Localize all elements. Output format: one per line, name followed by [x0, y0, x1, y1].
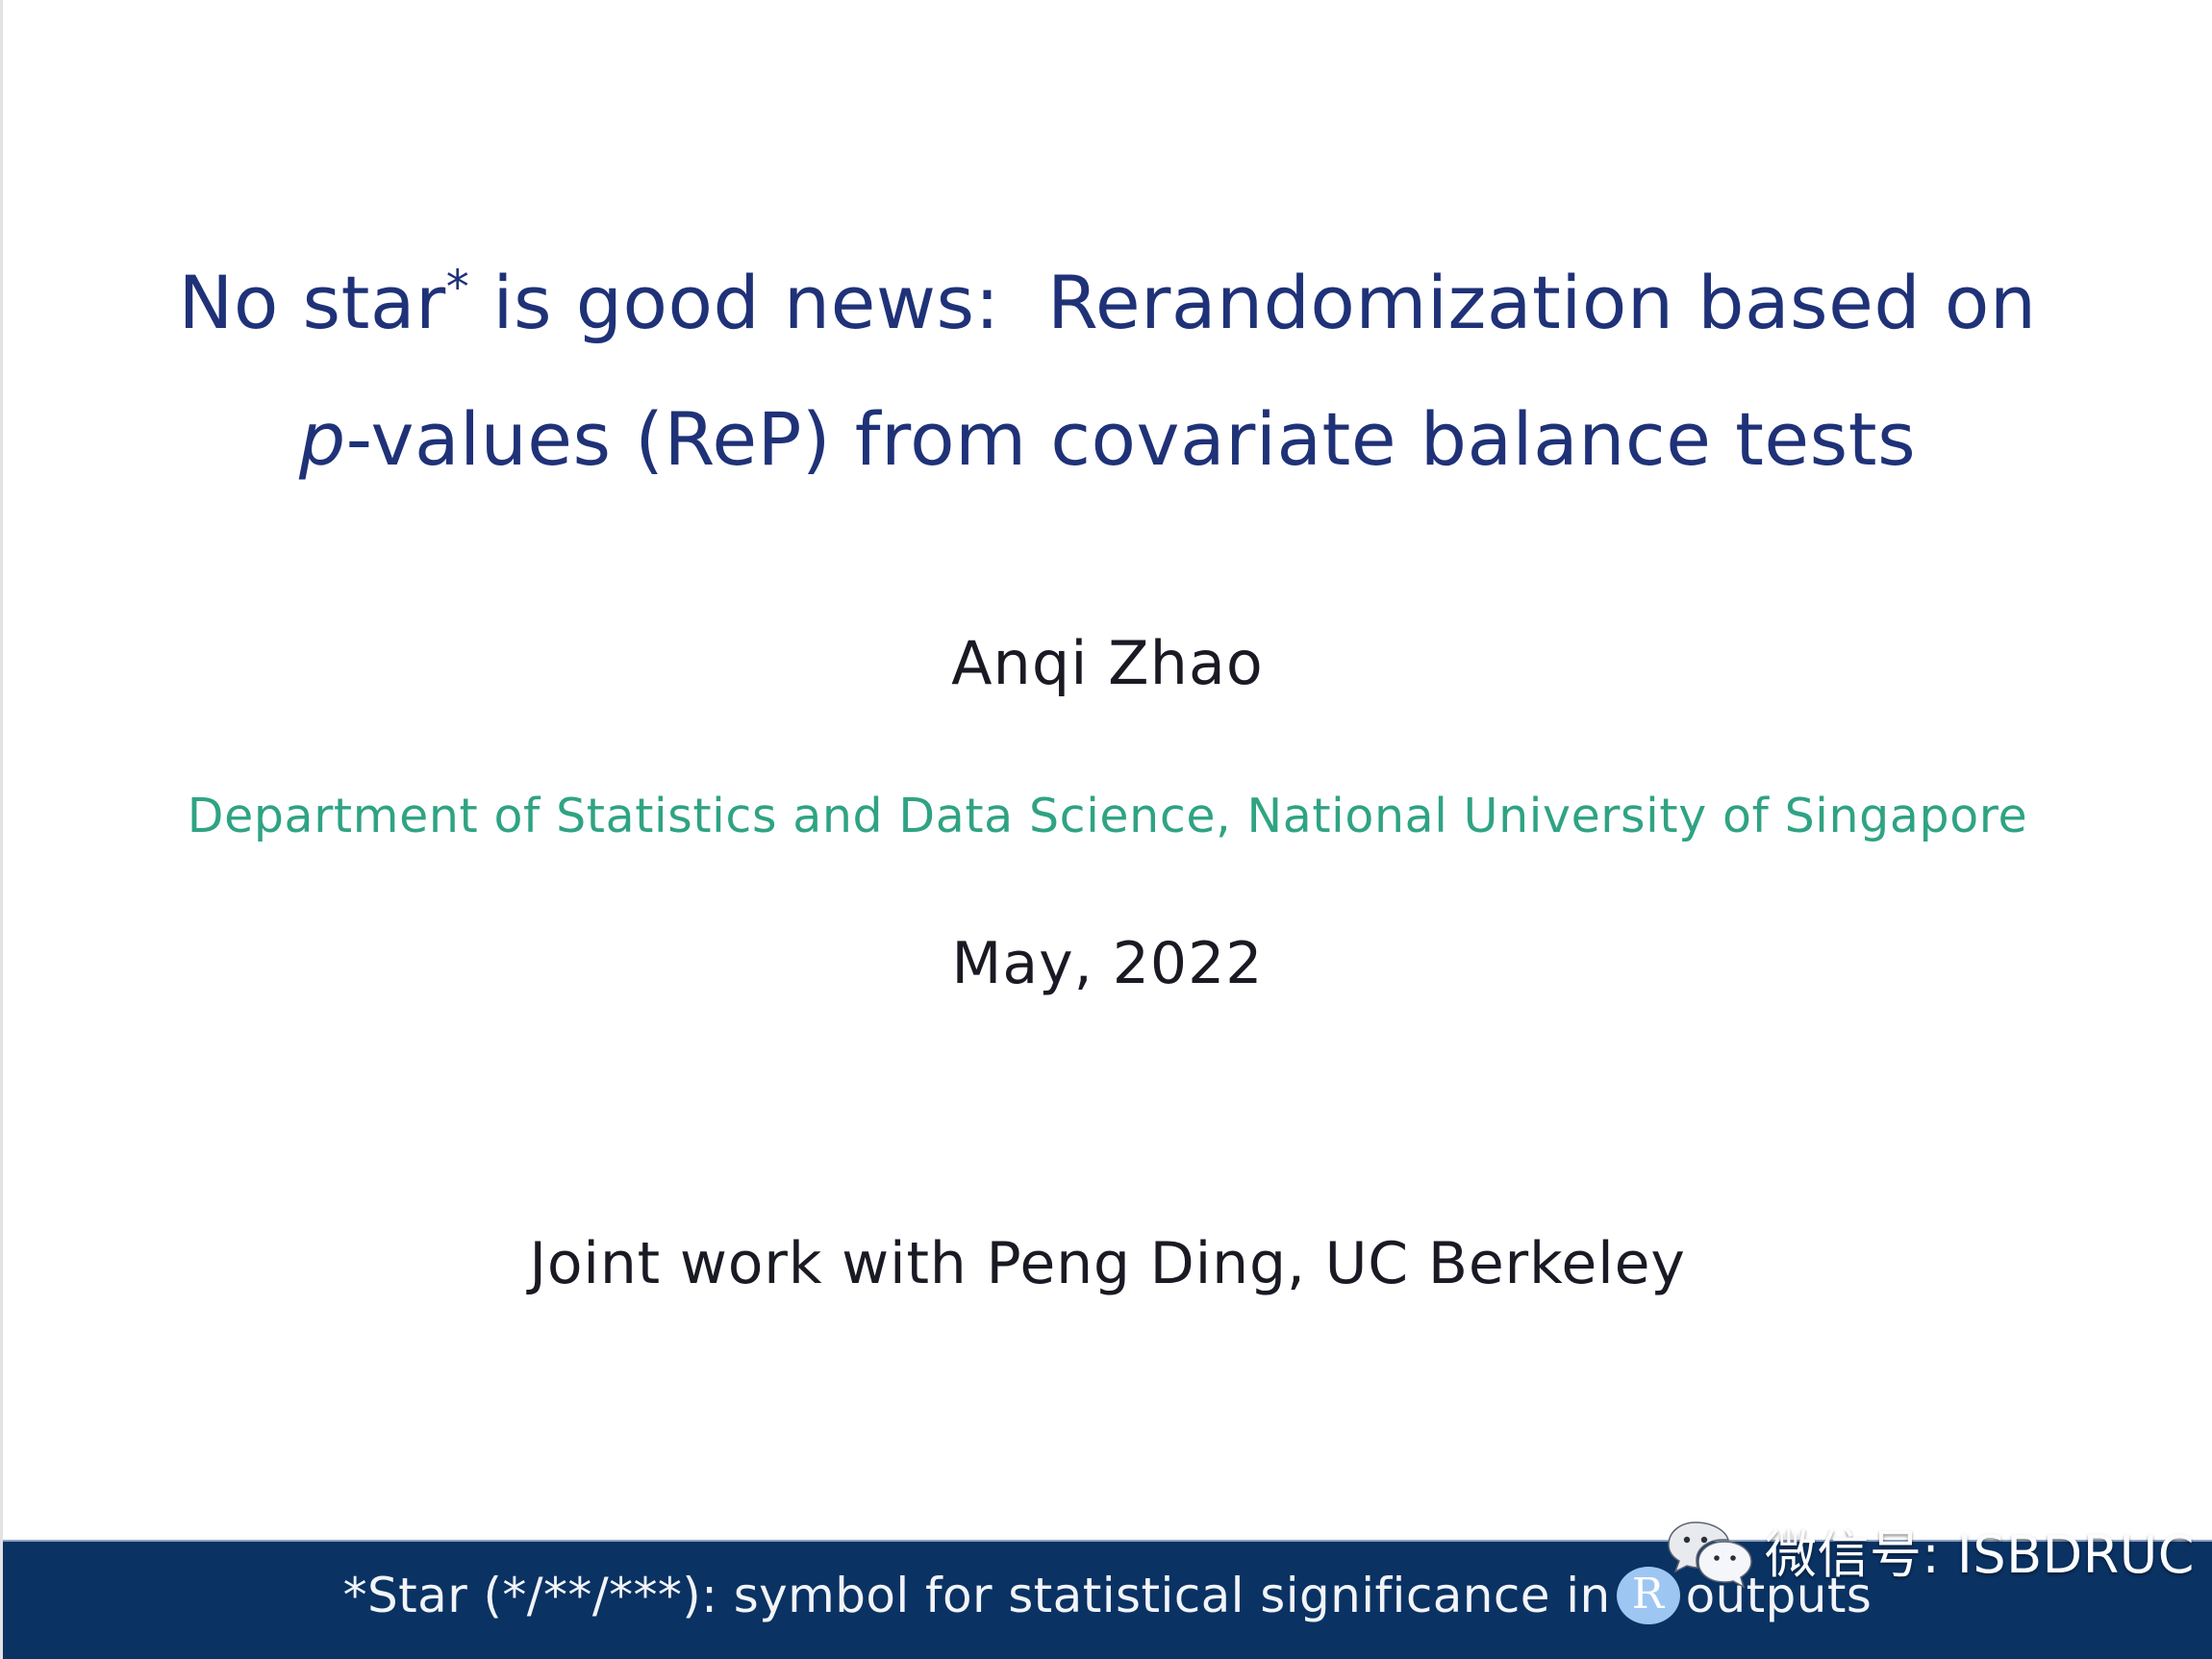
wechat-watermark: 微信号: ISBDRUC: [1667, 1519, 2195, 1592]
slide-title: No star* is good news: Rerandomization b…: [3, 219, 2212, 508]
author-affiliation: Department of Statistics and Data Scienc…: [3, 784, 2212, 849]
wechat-icon: [1667, 1519, 1755, 1592]
joint-work-credit: Joint work with Peng Ding, UC Berkeley: [3, 1223, 2212, 1304]
title-text-before-star: No star: [179, 260, 446, 345]
wechat-id-text: 微信号: ISBDRUC: [1765, 1524, 2195, 1586]
presentation-slide: No star* is good news: Rerandomization b…: [0, 0, 2212, 1659]
title-italic-p: p: [299, 396, 346, 482]
title-line-1: No star* is good news: Rerandomization b…: [3, 219, 2212, 371]
author-name: Anqi Zhao: [3, 625, 2212, 702]
title-text-after-star: is good news: Rerandomization based on: [469, 260, 2037, 345]
asterisk-footnote-marker: *: [446, 261, 469, 314]
footnote-text-before-logo: *Star (*/**/***): symbol for statistical…: [343, 1568, 1611, 1623]
title-line-2-rest: -values (ReP) from covariate balance tes…: [346, 396, 1917, 482]
footer-bar: *Star (*/**/***): symbol for statistical…: [3, 1540, 2212, 1659]
presentation-date: May, 2022: [3, 925, 2212, 1002]
title-line-2: p-values (ReP) from covariate balance te…: [3, 371, 2212, 508]
